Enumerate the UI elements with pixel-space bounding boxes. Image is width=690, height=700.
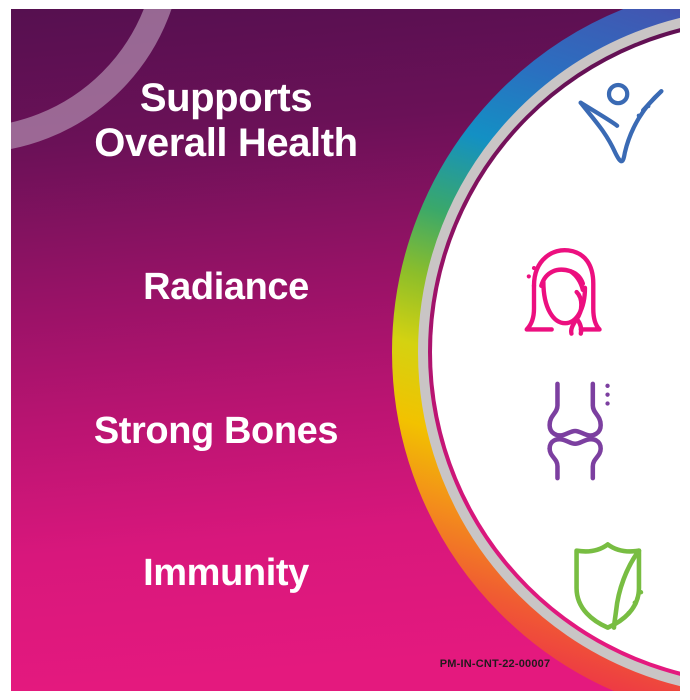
benefits-banner: Supports Overall Health Radiance Strong …	[0, 0, 690, 700]
woman-face-icon	[508, 240, 612, 344]
knee-joint-bone-icon	[533, 376, 633, 484]
person-check-icon	[573, 72, 669, 168]
shield-icon	[562, 534, 666, 638]
document-code: PM-IN-CNT-22-00007	[400, 658, 590, 670]
